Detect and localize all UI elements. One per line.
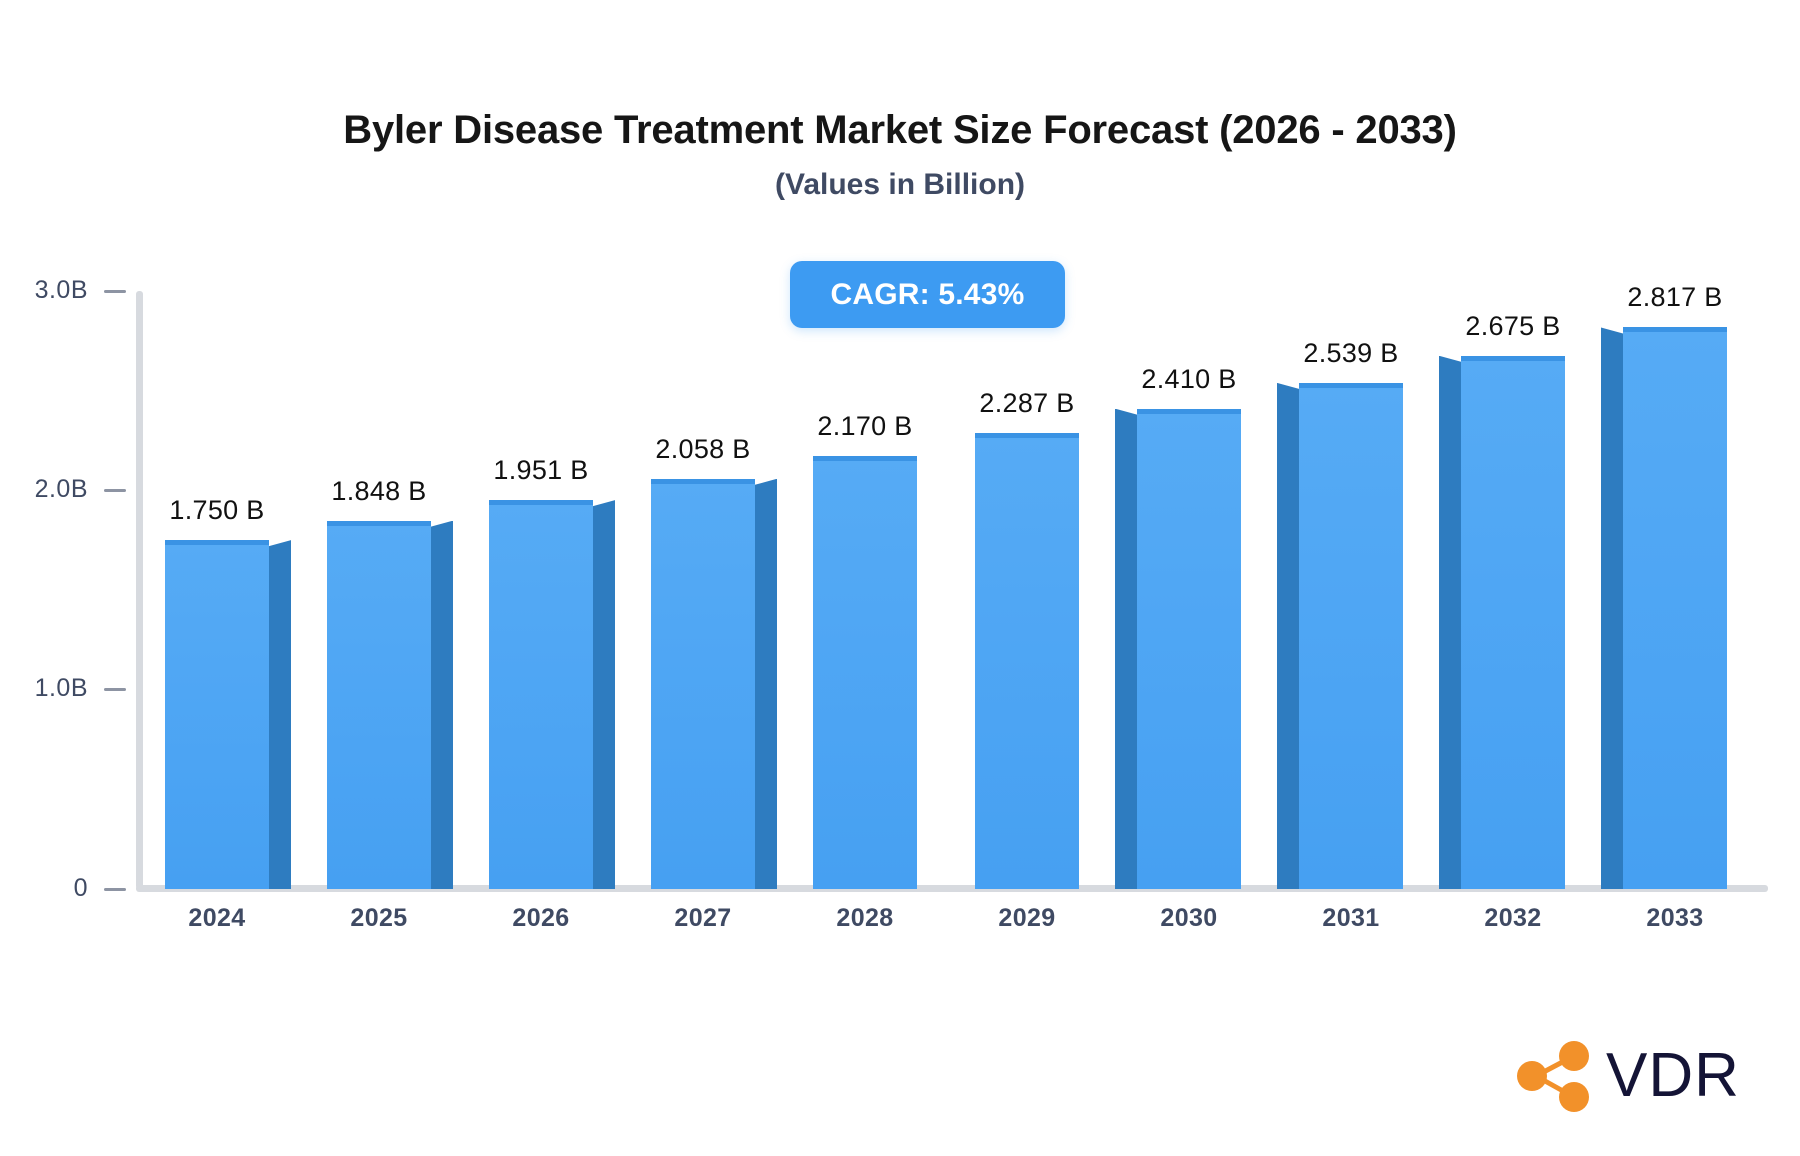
y-axis-tick-label: 1.0B [35, 676, 88, 701]
bar-column[interactable]: 2.410 B [1137, 291, 1241, 889]
x-axis-label-2030: 2030 [1108, 904, 1270, 933]
bar-side-right [269, 540, 291, 889]
x-axis-label-2025: 2025 [298, 904, 460, 933]
bar-column[interactable]: 1.951 B [489, 291, 593, 889]
bar-top-edge [975, 433, 1079, 438]
bar-2025[interactable]: 1.848 B [327, 521, 431, 889]
bar-top-edge [489, 500, 593, 505]
bar-top-edge [651, 479, 755, 484]
bar-front-face [651, 479, 755, 889]
bar-value-label: 2.817 B [1627, 282, 1722, 313]
plot-area: 1.750 B1.848 B1.951 B2.058 B2.170 B2.287… [136, 291, 1756, 889]
bar-2029[interactable]: 2.287 B [975, 433, 1079, 889]
y-axis-tick-label: 0 [74, 876, 88, 901]
x-axis-label-2028: 2028 [784, 904, 946, 933]
bar-front-face [489, 500, 593, 889]
bar-top-edge [1137, 409, 1241, 414]
y-axis-tick-mark [104, 290, 126, 293]
bar-top-edge [813, 456, 917, 461]
bar-front-face [1299, 383, 1403, 889]
bar-value-label: 2.170 B [817, 411, 912, 442]
bar-column[interactable]: 2.287 B [975, 291, 1079, 889]
x-axis-label-2026: 2026 [460, 904, 622, 933]
bar-side-left [1277, 383, 1299, 889]
bar-2030[interactable]: 2.410 B [1137, 409, 1241, 889]
bar-side-right [431, 521, 453, 889]
logo-text: VDR [1606, 1045, 1740, 1107]
bar-side-left [1115, 409, 1137, 889]
bar-column[interactable]: 2.675 B [1461, 291, 1565, 889]
x-axis-label-2031: 2031 [1270, 904, 1432, 933]
x-axis-label-2032: 2032 [1432, 904, 1594, 933]
bar-value-label: 2.675 B [1465, 311, 1560, 342]
y-axis-tick-mark [104, 688, 126, 691]
bar-2031[interactable]: 2.539 B [1299, 383, 1403, 889]
bar-front-face [327, 521, 431, 889]
bar-top-edge [1623, 327, 1727, 332]
bar-value-label: 2.058 B [655, 434, 750, 465]
bar-column[interactable]: 2.058 B [651, 291, 755, 889]
cagr-badge-label: CAGR: 5.43% [831, 278, 1025, 312]
bar-value-label: 1.951 B [493, 455, 588, 486]
bar-front-face [1137, 409, 1241, 889]
bar-2028[interactable]: 2.170 B [813, 456, 917, 889]
vdr-logo: VDR [1512, 1040, 1740, 1112]
bar-front-face [165, 540, 269, 889]
bar-value-label: 2.410 B [1141, 364, 1236, 395]
bar-column[interactable]: 2.539 B [1299, 291, 1403, 889]
chart-title: Byler Disease Treatment Market Size Fore… [0, 108, 1800, 153]
bar-top-edge [165, 540, 269, 545]
share-network-icon [1512, 1040, 1596, 1112]
bar-top-edge [1299, 383, 1403, 388]
bar-2026[interactable]: 1.951 B [489, 500, 593, 889]
y-axis-tick-label: 2.0B [35, 477, 88, 502]
bar-column[interactable]: 2.817 B [1623, 291, 1727, 889]
x-axis-label-2027: 2027 [622, 904, 784, 933]
bar-2027[interactable]: 2.058 B [651, 479, 755, 889]
bar-value-label: 1.750 B [169, 495, 264, 526]
bar-side-left [1439, 356, 1461, 889]
chart-subtitle: (Values in Billion) [0, 168, 1800, 202]
bar-value-label: 2.287 B [979, 388, 1074, 419]
bar-column[interactable]: 1.750 B [165, 291, 269, 889]
bar-front-face [813, 456, 917, 889]
bar-side-right [755, 479, 777, 889]
y-axis-tick-mark [104, 489, 126, 492]
bar-value-label: 1.848 B [331, 476, 426, 507]
bar-side-left [1601, 327, 1623, 889]
y-axis-tick-label: 3.0B [35, 278, 88, 303]
bar-front-face [1461, 356, 1565, 889]
bar-front-face [975, 433, 1079, 889]
bar-top-edge [327, 521, 431, 526]
bar-column[interactable]: 1.848 B [327, 291, 431, 889]
bar-side-right [593, 500, 615, 889]
bar-top-edge [1461, 356, 1565, 361]
bar-2032[interactable]: 2.675 B [1461, 356, 1565, 889]
bar-column[interactable]: 2.170 B [813, 291, 917, 889]
bar-2024[interactable]: 1.750 B [165, 540, 269, 889]
y-axis-tick-mark [104, 888, 126, 891]
cagr-badge: CAGR: 5.43% [790, 261, 1065, 328]
x-axis-label-2033: 2033 [1594, 904, 1756, 933]
x-axis-label-2024: 2024 [136, 904, 298, 933]
bar-2033[interactable]: 2.817 B [1623, 327, 1727, 889]
chart-canvas: Byler Disease Treatment Market Size Fore… [0, 0, 1800, 1156]
bar-value-label: 2.539 B [1303, 338, 1398, 369]
bar-front-face [1623, 327, 1727, 889]
x-axis-label-2029: 2029 [946, 904, 1108, 933]
